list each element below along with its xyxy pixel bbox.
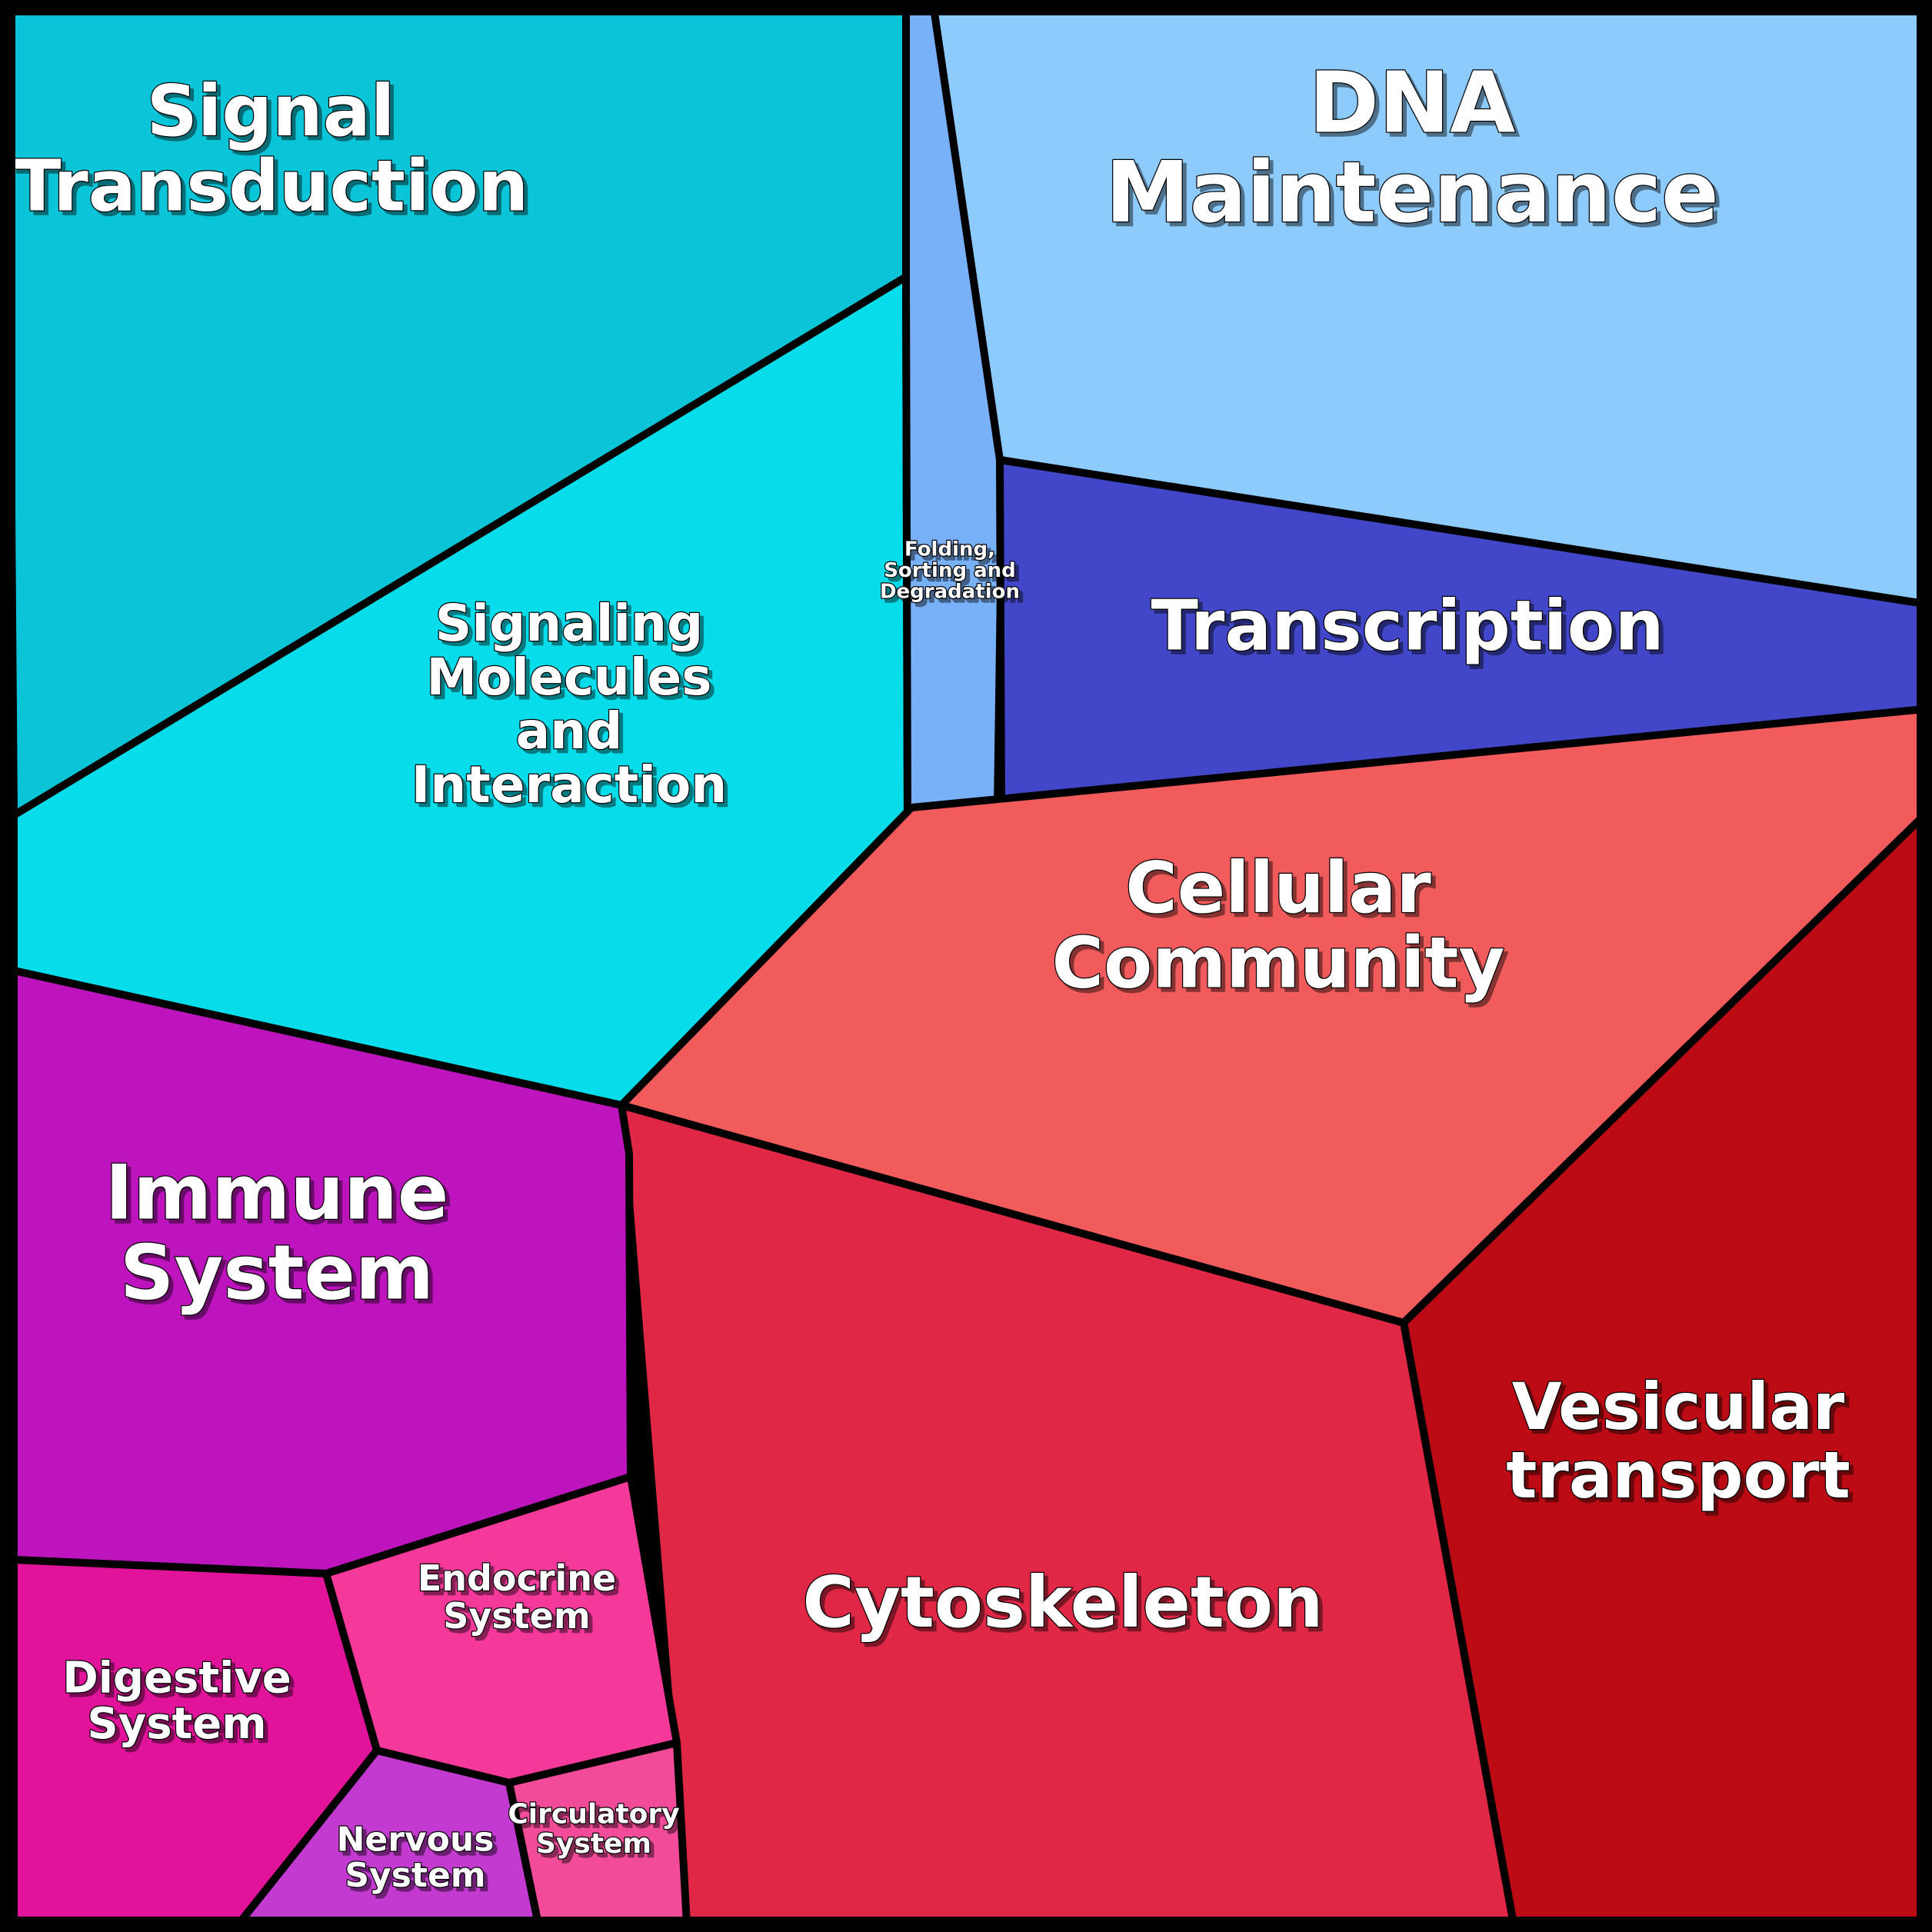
treemap-label-line: Degradation <box>880 581 1020 604</box>
treemap-label-line: and <box>516 701 623 761</box>
treemap-label-cytoskeleton: Cytoskeleton <box>802 1561 1323 1644</box>
treemap-label-signaling-molecules-and-interaction: SignalingMoleculesandInteraction <box>411 594 728 814</box>
treemap-label-line: Signal <box>147 70 395 152</box>
treemap-label-line: Transduction <box>13 145 528 228</box>
treemap-label-line: DNA <box>1309 53 1516 152</box>
treemap-label-line: System <box>345 1856 485 1895</box>
treemap-label-line: Signaling <box>435 594 703 653</box>
treemap-label-line: Molecules <box>426 648 711 707</box>
treemap-label-line: Cytoskeleton <box>802 1561 1323 1644</box>
treemap-label-line: Immune <box>105 1150 449 1237</box>
treemap-label-endocrine-system: EndocrineSystem <box>418 1557 616 1637</box>
treemap-label-nervous-system: NervousSystem <box>337 1820 495 1896</box>
treemap-label-line: System <box>443 1595 591 1637</box>
treemap-label-line: transport <box>1506 1437 1850 1513</box>
treemap-label-line: Nervous <box>337 1820 495 1860</box>
treemap-label-line: Maintenance <box>1105 143 1719 241</box>
treemap-label-line: Endocrine <box>418 1557 616 1599</box>
treemap-label-line: Vesicular <box>1512 1369 1845 1444</box>
treemap-label-line: Transcription <box>1151 585 1664 666</box>
treemap-label-line: System <box>87 1699 266 1749</box>
treemap-label-line: Cellular <box>1125 847 1431 929</box>
treemap-label-digestive-system: DigestiveSystem <box>62 1653 291 1748</box>
treemap-label-line: Folding, <box>904 538 995 561</box>
treemap-label-immune-system: ImmuneSystem <box>105 1150 449 1317</box>
treemap-label-line: Digestive <box>62 1653 291 1703</box>
voronoi-treemap-figure: SignalTransductionSignalingMoleculesandI… <box>0 0 1932 1932</box>
treemap-label-transcription: Transcription <box>1151 585 1664 666</box>
treemap-label-vesicular-transport: Vesiculartransport <box>1506 1369 1850 1513</box>
treemap-label-line: Interaction <box>411 755 728 814</box>
treemap-label-line: System <box>536 1828 651 1860</box>
voronoi-treemap-canvas: SignalTransductionSignalingMoleculesandI… <box>0 0 1932 1932</box>
treemap-label-line: Community <box>1052 922 1505 1004</box>
treemap-label-line: Circulatory <box>508 1799 679 1830</box>
treemap-label-line: Sorting and <box>884 559 1016 582</box>
treemap-label-line: System <box>120 1229 434 1317</box>
